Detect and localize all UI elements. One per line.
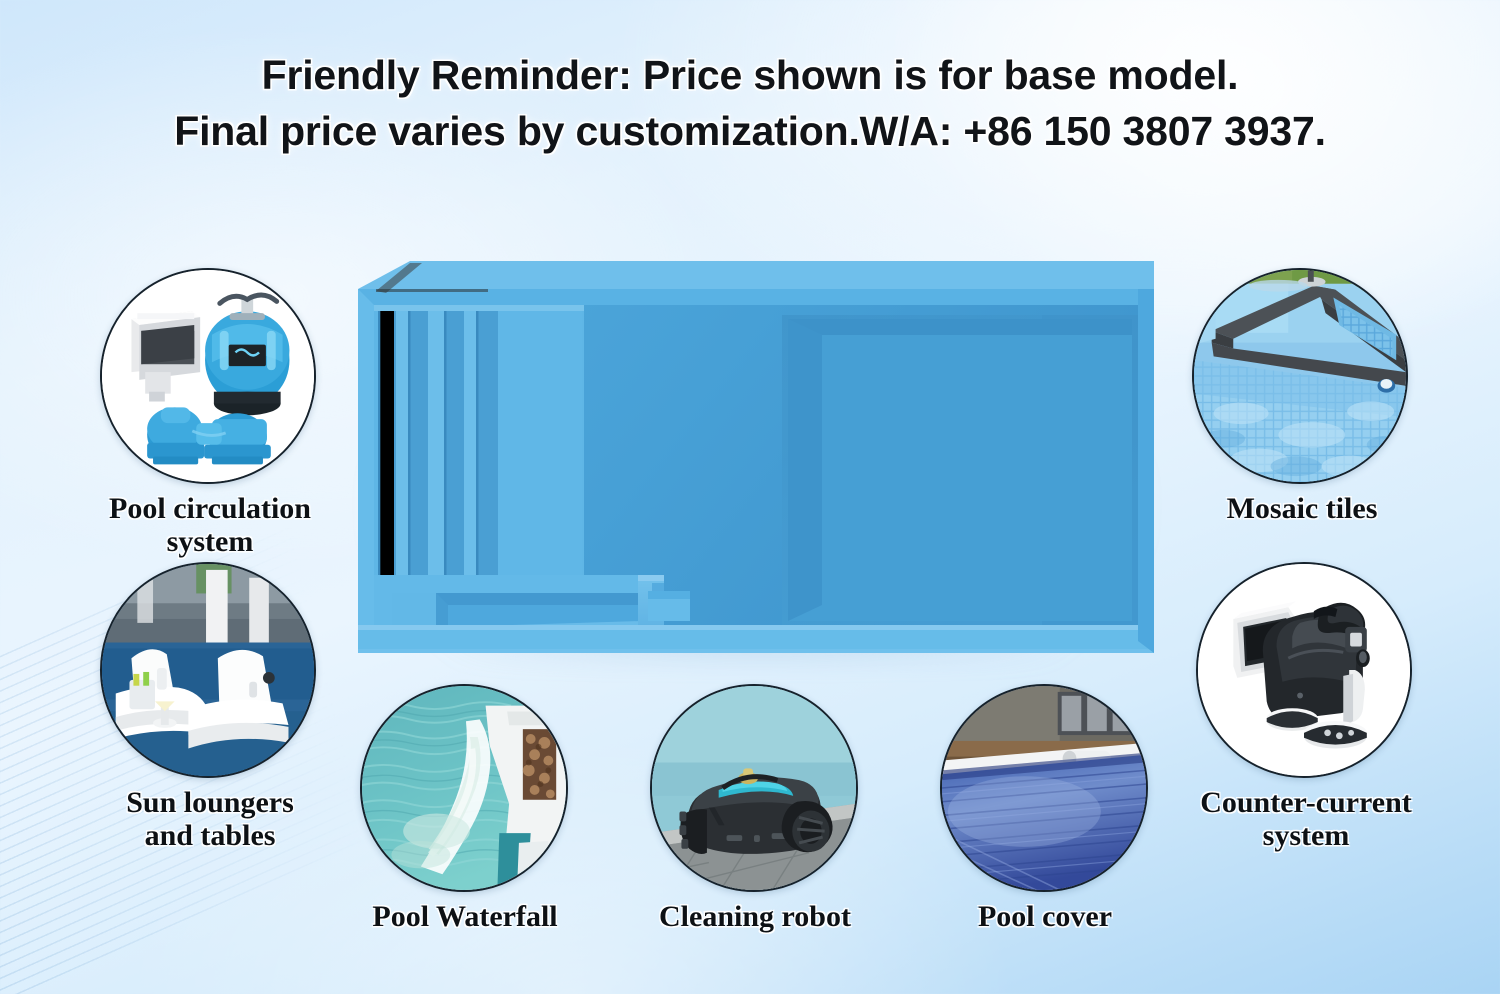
feature-mosaic-tiles[interactable]: Mosaic tiles xyxy=(1192,268,1412,484)
waterfall-into-turquoise-water-icon xyxy=(362,686,566,890)
black-swim-jet-unit-icon xyxy=(1198,564,1410,776)
pool-circulation-system-label: Pool circulation system xyxy=(45,492,375,558)
black-tracked-pool-robot-icon xyxy=(652,686,856,890)
filter-pump-skimmer-icon xyxy=(102,270,314,482)
pool-waterfall-label: Pool Waterfall xyxy=(300,900,630,933)
cleaning-robot-label: Cleaning robot xyxy=(590,900,920,933)
feature-pool-cover[interactable]: Pool cover xyxy=(940,684,1150,892)
blue-slatted-automatic-cover-icon xyxy=(942,686,1146,890)
counter-current-system-thumbnail[interactable] xyxy=(1196,562,1412,778)
white-loungers-in-water-icon xyxy=(102,564,314,776)
mosaic-tiles-label: Mosaic tiles xyxy=(1137,492,1467,525)
mosaic-tiled-pool-icon xyxy=(1194,270,1406,482)
feature-counter-current-system[interactable]: Counter-current system xyxy=(1196,562,1416,778)
pool-cover-label: Pool cover xyxy=(880,900,1210,933)
feature-pool-circulation-system[interactable]: Pool circulation system xyxy=(100,268,320,484)
pool-circulation-system-thumbnail[interactable] xyxy=(100,268,316,484)
pool-shell-render xyxy=(352,253,1154,661)
mosaic-tiles-thumbnail[interactable] xyxy=(1192,268,1408,484)
cleaning-robot-thumbnail[interactable] xyxy=(650,684,858,892)
sun-loungers-thumbnail[interactable] xyxy=(100,562,316,778)
feature-cleaning-robot[interactable]: Cleaning robot xyxy=(650,684,860,892)
sun-loungers-label: Sun loungers and tables xyxy=(45,786,375,852)
counter-current-system-label: Counter-current system xyxy=(1141,786,1471,852)
pool-waterfall-thumbnail[interactable] xyxy=(360,684,568,892)
feature-pool-waterfall[interactable]: Pool Waterfall xyxy=(360,684,570,892)
feature-sun-loungers-and-tables[interactable]: Sun loungers and tables xyxy=(100,562,320,778)
pool-shell-illustration xyxy=(352,253,1154,661)
reminder-headline: Friendly Reminder: Price shown is for ba… xyxy=(0,47,1500,159)
pool-cover-thumbnail[interactable] xyxy=(940,684,1148,892)
